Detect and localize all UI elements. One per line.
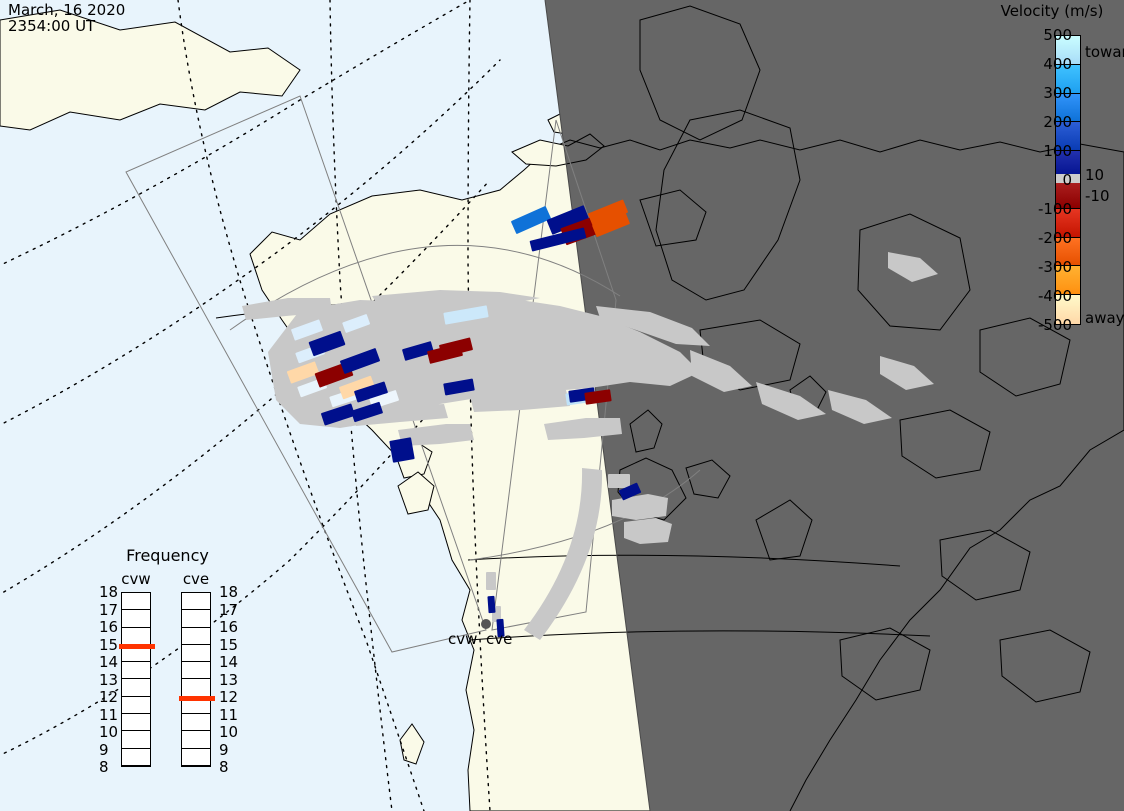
frequency-cell	[182, 731, 210, 748]
frequency-tick-13: 13	[219, 671, 238, 689]
frequency-column-label-cve: cve	[181, 570, 211, 588]
frequency-cell	[182, 610, 210, 627]
frequency-cell	[182, 662, 210, 679]
colorbar-tick--400: -400	[1038, 287, 1072, 305]
colorbar-title: Velocity (m/s)	[980, 2, 1124, 20]
frequency-tick-17: 17	[219, 601, 238, 619]
frequency-cell	[122, 593, 150, 610]
frequency-cell	[182, 749, 210, 766]
frequency-cell	[182, 628, 210, 645]
frequency-cell	[122, 714, 150, 731]
frequency-tick-9: 9	[99, 741, 109, 759]
colorbar-away-label: away	[1085, 309, 1124, 327]
frequency-marker-cvw	[119, 644, 155, 649]
frequency-cell	[122, 610, 150, 627]
colorbar-inner-neg-label: -10	[1085, 187, 1110, 205]
frequency-tick-18: 18	[99, 583, 118, 601]
frequency-tick-11: 11	[219, 706, 238, 724]
frequency-cell	[182, 593, 210, 610]
frequency-bar-cvw	[121, 592, 151, 767]
frequency-tick-10: 10	[99, 723, 118, 741]
colorbar-tick--500: -500	[1038, 316, 1072, 334]
frequency-cell	[122, 749, 150, 766]
colorbar-tick-0: 0	[1062, 171, 1072, 189]
colorbar-tick-400: 400	[1043, 55, 1072, 73]
colorbar-inner-pos-label: 10	[1085, 166, 1104, 184]
frequency-bar-cve	[181, 592, 211, 767]
frequency-tick-9: 9	[219, 741, 229, 759]
frequency-tick-8: 8	[99, 758, 109, 776]
frequency-cell	[122, 731, 150, 748]
frequency-cell	[182, 714, 210, 731]
frequency-marker-cve	[179, 696, 215, 701]
colorbar-tick-100: 100	[1043, 142, 1072, 160]
frequency-column-cve: cve	[181, 592, 211, 767]
radar-site-marker	[478, 616, 496, 634]
colorbar-tick--200: -200	[1038, 229, 1072, 247]
colorbar-toward-label: toward	[1085, 43, 1124, 61]
colorbar-tick-300: 300	[1043, 84, 1072, 102]
colorbar-tick--300: -300	[1038, 258, 1072, 276]
frequency-tick-10: 10	[219, 723, 238, 741]
frequency-tick-16: 16	[99, 618, 118, 636]
velocity-colorbar: Velocity (m/s) 5004003002001000-100-200-…	[980, 0, 1124, 340]
frequency-tick-12: 12	[219, 688, 238, 706]
colorbar-tick--100: -100	[1038, 200, 1072, 218]
frequency-tick-14: 14	[99, 653, 118, 671]
frequency-legend: Frequency cvw cve 18171615141312111098 1…	[85, 546, 250, 786]
frequency-column-label-cvw: cvw	[121, 570, 151, 588]
frequency-cell	[122, 662, 150, 679]
frequency-tick-13: 13	[99, 671, 118, 689]
velocity-cell	[389, 437, 414, 462]
frequency-tick-12: 12	[99, 688, 118, 706]
frequency-title: Frequency	[85, 546, 250, 565]
frequency-cell	[122, 697, 150, 714]
colorbar-tick-200: 200	[1043, 113, 1072, 131]
frequency-cell	[122, 679, 150, 696]
frequency-tick-18: 18	[219, 583, 238, 601]
velocity-cell	[511, 206, 551, 234]
frequency-tick-14: 14	[219, 653, 238, 671]
colorbar-tick-500: 500	[1043, 26, 1072, 44]
frequency-cell	[182, 679, 210, 696]
frequency-tick-11: 11	[99, 706, 118, 724]
frequency-tick-8: 8	[219, 758, 229, 776]
frequency-column-cvw: cvw	[121, 592, 151, 767]
frequency-tick-17: 17	[99, 601, 118, 619]
frequency-cell	[182, 645, 210, 662]
frequency-cell	[122, 628, 150, 645]
radar-map-view: March, 16 2020 2354:00 UT cvw cve Veloci…	[0, 0, 1124, 811]
frequency-tick-15: 15	[219, 636, 238, 654]
frequency-tick-16: 16	[219, 618, 238, 636]
velocity-cell	[487, 596, 495, 613]
frequency-tick-15: 15	[99, 636, 118, 654]
groundscatter-group	[242, 252, 938, 640]
time-label: 2354:00 UT	[8, 17, 95, 35]
site-label-cvw: cvw	[448, 630, 477, 648]
timestamp-block: March, 16 2020 2354:00 UT	[8, 2, 125, 34]
